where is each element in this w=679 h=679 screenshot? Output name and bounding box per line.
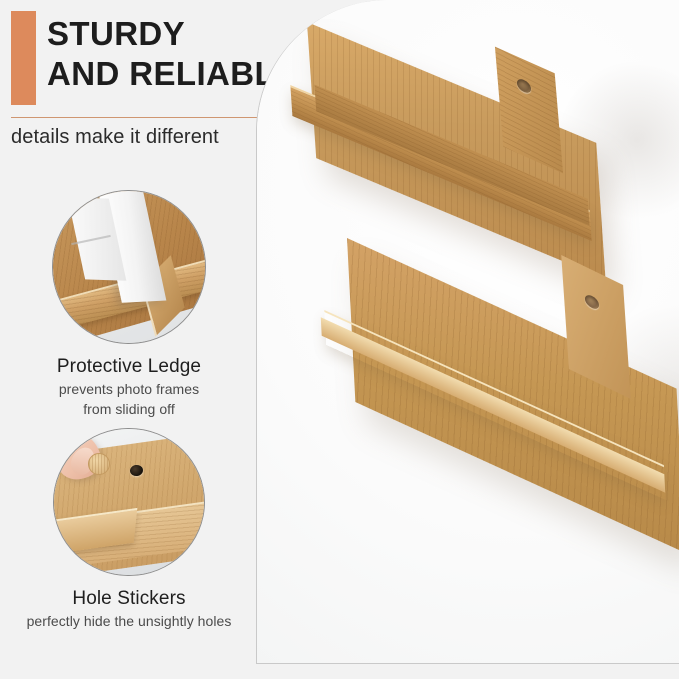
product-photo-panel: [256, 0, 679, 664]
subheadline: details make it different: [11, 124, 219, 150]
accent-bar: [11, 11, 36, 105]
feature-subtitle-line-2: from sliding off: [0, 400, 258, 418]
product-photo-background: [257, 0, 679, 663]
feature-subtitle-line-1: prevents photo frames: [0, 380, 258, 398]
shelf-lower: [327, 238, 679, 658]
feature-protective-ledge: Protective Ledge prevents photo frames f…: [0, 190, 258, 418]
product-infographic: STURDY AND RELIABLE details make it diff…: [0, 0, 679, 679]
feature-image-hole-stickers: [53, 428, 205, 576]
feature-hole-stickers: Hole Stickers perfectly hide the unsight…: [0, 428, 258, 630]
hole-sticker-plug: [88, 453, 110, 475]
title-divider: [11, 117, 258, 118]
feature-title: Hole Stickers: [0, 587, 258, 610]
feature-image-protective-ledge: [52, 190, 206, 344]
left-content-column: STURDY AND RELIABLE details make it diff…: [0, 0, 258, 679]
feature-subtitle-line-1: perfectly hide the unsightly holes: [0, 612, 258, 630]
feature-title: Protective Ledge: [0, 355, 258, 378]
